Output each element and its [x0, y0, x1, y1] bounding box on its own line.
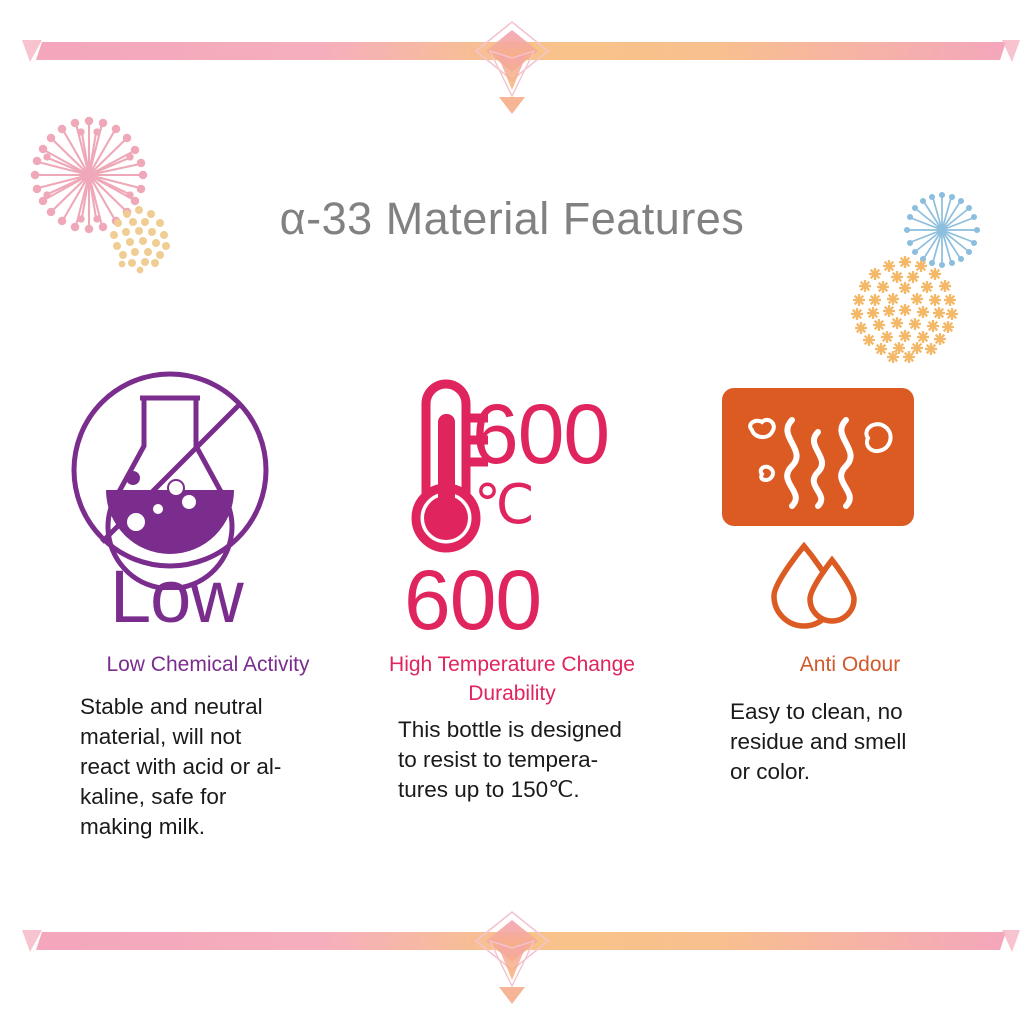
- thermometer-icon-area: 600 ℃ 600: [362, 370, 662, 650]
- water-droplets-icon: [766, 538, 876, 630]
- feature-caption-high-temperature: High Temperature Change Durability: [362, 650, 662, 708]
- page-title: α-33 Material Features: [0, 193, 1024, 245]
- thermometer-value: 600: [472, 392, 609, 476]
- feature-body-high-temperature: This bottle is designed to resist to tem…: [362, 715, 662, 805]
- feature-card-high-temperature: 600 ℃ 600 High Temperature Change Durabi…: [362, 370, 662, 805]
- feature-caption-anti-odour: Anti Odour: [700, 650, 1000, 679]
- feature-body-anti-odour: Easy to clean, no residue and smell or c…: [700, 697, 1000, 787]
- bottom-decorative-border: [0, 904, 1024, 1024]
- no-flask-icon-area: Low: [58, 370, 358, 650]
- anti-odour-icon-area: [700, 370, 1000, 650]
- odour-waves-icon: [722, 388, 922, 548]
- features-row: Low Low Chemical Activity Stable and neu…: [0, 370, 1024, 890]
- orange-flower-cluster-icon: [845, 250, 965, 375]
- feature-card-anti-odour: Anti Odour Easy to clean, no residue and…: [700, 370, 1000, 787]
- thermometer-badge: 600: [404, 558, 541, 642]
- top-border-svg: [0, 0, 1024, 120]
- bottom-border-svg: [0, 904, 1024, 1024]
- feature-caption-low-chemical-activity: Low Chemical Activity: [58, 650, 358, 679]
- thermometer-unit: ℃: [474, 478, 534, 532]
- top-decorative-border: [0, 0, 1024, 120]
- flask-icon-badge: Low: [110, 560, 243, 634]
- feature-body-low-chemical-activity: Stable and neutral material, will not re…: [58, 692, 358, 842]
- feature-card-low-chemical-activity: Low Low Chemical Activity Stable and neu…: [58, 370, 358, 842]
